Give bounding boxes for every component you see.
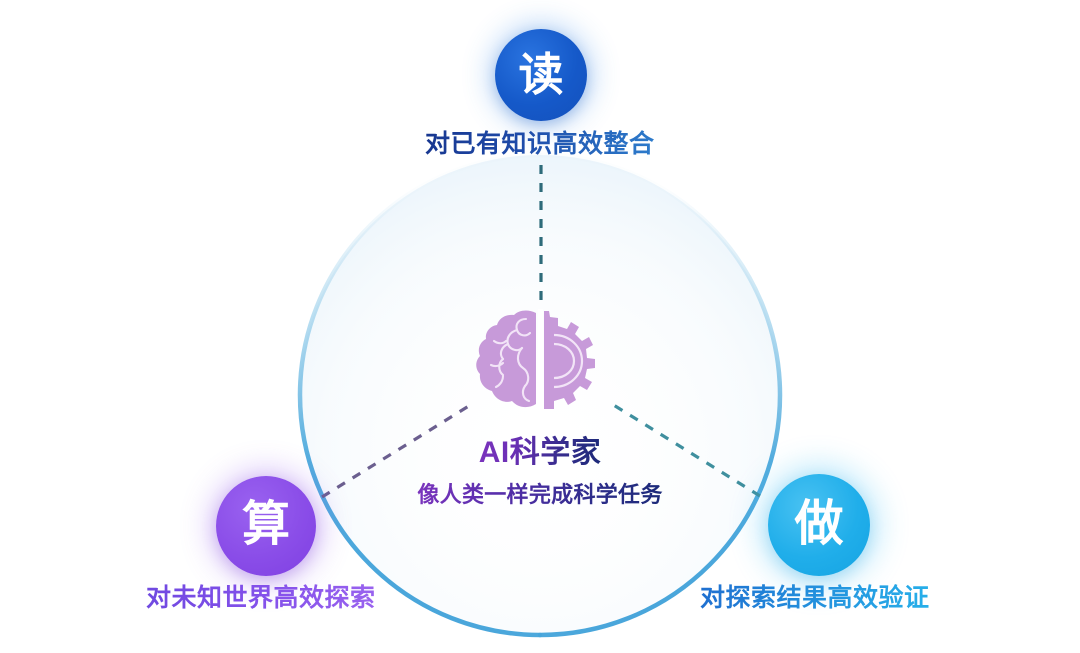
node-compute-circle[interactable]: 算 — [216, 476, 316, 576]
node-read-glyph: 读 — [518, 52, 563, 97]
brain-gear-icon — [470, 305, 610, 415]
node-do-glyph: 做 — [794, 500, 843, 549]
center-title: AI科学家 — [479, 427, 602, 471]
center-node: AI科学家 像人类一样完成科学任务 — [340, 305, 740, 509]
node-read-circle[interactable]: 读 — [495, 29, 587, 121]
node-do-caption: 对探索结果高效验证 — [700, 578, 930, 614]
node-compute-caption: 对未知世界高效探索 — [146, 578, 376, 614]
node-do-circle[interactable]: 做 — [768, 474, 870, 576]
center-subtitle: 像人类一样完成科学任务 — [417, 477, 662, 509]
diagram-canvas: AI科学家 像人类一样完成科学任务 读 对已有知识高效整合 算 对未知世界高效探… — [0, 0, 1080, 653]
node-compute-glyph: 算 — [242, 501, 290, 549]
icon-split-gap — [538, 309, 543, 411]
node-read-caption: 对已有知识高效整合 — [425, 124, 655, 160]
